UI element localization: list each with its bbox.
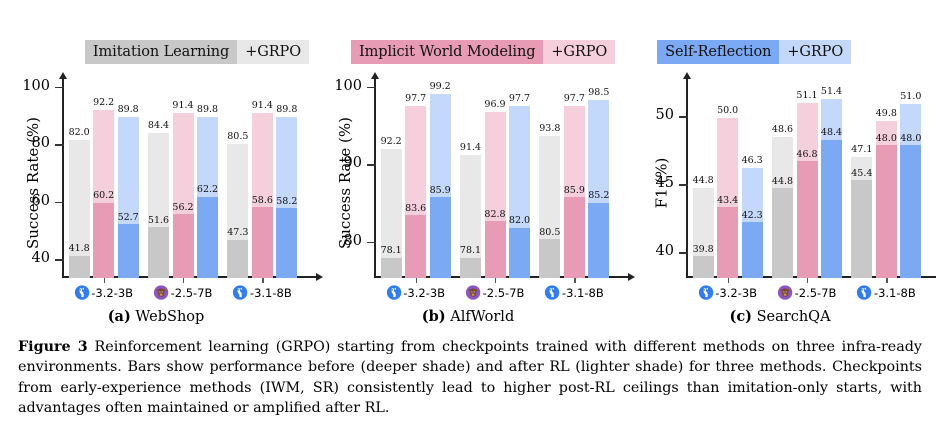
bar-webshop-2-1: 91.458.6 — [252, 113, 273, 278]
legend-swatch-implicit-world-modeling-base: Implicit World Modeling — [351, 40, 543, 64]
bar-value-label-after: 80.5 — [227, 131, 248, 142]
bar-webshop-2-0: 80.547.3 — [227, 144, 248, 278]
bar-value-label-after: 97.7 — [564, 93, 585, 104]
bar-value-label-before: 80.5 — [539, 227, 560, 238]
x-category-alfworld-2: -3.1-8B — [545, 285, 604, 300]
bar-value-label-after: 50.0 — [717, 105, 738, 116]
bar-value-label-after: 84.4 — [148, 120, 169, 131]
bar-searchqa-0-0: 44.839.8 — [693, 188, 714, 278]
bar-segment-before-rl — [539, 239, 560, 278]
bar-value-label-after: 97.7 — [509, 93, 530, 104]
bar-segment-before-rl — [93, 203, 114, 278]
bar-value-label-before: 39.8 — [693, 244, 714, 255]
x-category-label: -2.5-7B — [483, 286, 525, 300]
bar-segment-before-rl — [797, 161, 818, 278]
x-axis-categories: -3.2-3B-2.5-7B-3.1-8B — [686, 285, 924, 307]
llama-icon — [386, 285, 401, 300]
bar-value-label-before: 56.2 — [172, 202, 193, 213]
bar-value-label-after: 91.4 — [460, 142, 481, 153]
bar-value-label-after: 91.4 — [252, 100, 273, 111]
x-category-alfworld-1: -2.5-7B — [466, 285, 525, 300]
chart-panel-alfworld: Success Rate (%)809010092.278.197.783.69… — [312, 80, 624, 330]
bar-segment-before-rl — [405, 215, 426, 278]
bar-alfworld-2-2: 98.585.2 — [588, 100, 609, 278]
chart-panels: Success Rate (%)40608010082.041.892.260.… — [0, 80, 936, 330]
y-tick-label: 100 — [22, 78, 50, 94]
x-category-label: -3.1-8B — [874, 286, 916, 300]
bar-value-label-after: 47.1 — [851, 144, 872, 155]
bar-alfworld-1-0: 91.478.1 — [460, 155, 481, 278]
bar-segment-before-rl — [118, 224, 139, 278]
x-category-alfworld-0: -3.2-3B — [386, 285, 445, 300]
x-category-webshop-0: -3.2-3B — [74, 285, 133, 300]
y-tick-label: 40 — [32, 250, 50, 266]
bar-webshop-1-0: 84.451.6 — [148, 133, 169, 278]
bar-value-label-before: 58.2 — [276, 196, 297, 207]
bar-value-label-after: 98.5 — [588, 87, 609, 98]
bar-value-label-after: 82.0 — [69, 127, 90, 138]
bar-segment-before-rl — [430, 197, 451, 278]
x-category-label: -3.2-3B — [715, 286, 757, 300]
bar-webshop-1-2: 89.862.2 — [197, 117, 218, 278]
bar-segment-before-rl — [148, 227, 169, 278]
y-tick-label: 80 — [344, 233, 362, 249]
bars-container: 92.278.197.783.699.285.991.478.196.982.8… — [374, 88, 612, 278]
legend-group-self-reflection: Self-Reflection+GRPO — [657, 40, 851, 64]
bar-value-label-before: 47.3 — [227, 227, 248, 238]
bar-value-label-before: 58.6 — [252, 195, 273, 206]
bar-segment-before-rl — [717, 207, 738, 278]
bar-searchqa-2-2: 51.048.0 — [900, 104, 921, 278]
plot-area-webshop: 40608010082.041.892.260.289.852.784.451.… — [62, 88, 300, 278]
y-tick-label: 80 — [32, 135, 50, 151]
legend-group-implicit-world-modeling: Implicit World Modeling+GRPO — [351, 40, 615, 64]
bar-value-label-before: 48.0 — [876, 133, 897, 144]
bar-webshop-0-1: 92.260.2 — [93, 110, 114, 278]
bar-value-label-before: 78.1 — [460, 245, 481, 256]
bar-searchqa-1-0: 48.644.8 — [772, 137, 793, 278]
x-axis-categories: -3.2-3B-2.5-7B-3.1-8B — [62, 285, 300, 307]
bar-value-label-after: 91.4 — [172, 100, 193, 111]
bar-value-label-before: 78.1 — [381, 245, 402, 256]
bar-value-label-before: 51.6 — [148, 215, 169, 226]
legend-swatch-self-reflection-base: Self-Reflection — [657, 40, 779, 64]
y-tick-label: 60 — [32, 193, 50, 209]
legend-group-imitation-learning: Imitation Learning+GRPO — [85, 40, 309, 64]
bar-segment-before-rl — [173, 214, 194, 278]
bar-alfworld-0-1: 97.783.6 — [405, 106, 426, 278]
legend-swatch-self-reflection-grpo: +GRPO — [779, 40, 851, 64]
bar-alfworld-1-2: 97.782.0 — [509, 106, 530, 278]
qwen-icon — [466, 285, 481, 300]
bar-segment-before-rl — [900, 145, 921, 278]
subcaption-letter: (a) — [108, 308, 131, 325]
bar-value-label-after: 89.8 — [276, 104, 297, 115]
bar-value-label-after: 51.1 — [796, 90, 817, 101]
subcaption-title: SearchQA — [757, 309, 831, 325]
x-category-label: -2.5-7B — [795, 286, 837, 300]
x-category-label: -2.5-7B — [171, 286, 213, 300]
bars-container: 82.041.892.260.289.852.784.451.691.456.2… — [62, 88, 300, 278]
bar-segment-before-rl — [381, 258, 402, 278]
bar-searchqa-1-1: 51.146.8 — [797, 103, 818, 278]
bar-segment-before-rl — [564, 197, 585, 278]
bar-searchqa-2-1: 49.848.0 — [876, 121, 897, 278]
bar-value-label-before: 85.9 — [430, 185, 451, 196]
llama-icon — [545, 285, 560, 300]
subcaption-title: AlfWorld — [450, 309, 514, 325]
y-axis-label-alfworld: Success Rate (%) — [334, 88, 356, 278]
x-category-searchqa-2: -3.1-8B — [857, 285, 916, 300]
llama-icon — [233, 285, 248, 300]
bar-value-label-before: 45.4 — [851, 168, 872, 179]
qwen-icon — [154, 285, 169, 300]
bar-value-label-before: 52.7 — [118, 212, 139, 223]
x-category-searchqa-0: -3.2-3B — [698, 285, 757, 300]
bar-segment-before-rl — [485, 221, 506, 278]
x-category-label: -3.1-8B — [250, 286, 292, 300]
bar-value-label-before: 44.8 — [772, 176, 793, 187]
bar-value-label-after: 48.6 — [772, 124, 793, 135]
chart-legend: Imitation Learning+GRPOImplicit World Mo… — [0, 40, 936, 64]
chart-panel-webshop: Success Rate (%)40608010082.041.892.260.… — [0, 80, 312, 330]
bar-value-label-before: 60.2 — [93, 190, 114, 201]
bar-value-label-before: 62.2 — [197, 184, 218, 195]
x-category-label: -3.2-3B — [91, 286, 133, 300]
bar-value-label-before: 48.0 — [900, 133, 921, 144]
bar-webshop-2-2: 89.858.2 — [276, 117, 297, 278]
bar-value-label-after: 46.3 — [742, 155, 763, 166]
subcaption-alfworld: (b) AlfWorld — [312, 308, 624, 325]
subcaption-letter: (b) — [422, 308, 446, 325]
legend-swatch-implicit-world-modeling-grpo: +GRPO — [543, 40, 615, 64]
bar-value-label-after: 99.2 — [430, 81, 451, 92]
bar-value-label-after: 89.8 — [197, 104, 218, 115]
bar-segment-before-rl — [772, 188, 793, 278]
bar-segment-before-rl — [276, 208, 297, 278]
qwen-icon — [778, 285, 793, 300]
bar-value-label-before: 43.4 — [717, 195, 738, 206]
bar-value-label-before: 85.2 — [588, 190, 609, 201]
bar-segment-before-rl — [509, 228, 530, 278]
y-tick-label: 100 — [334, 78, 362, 94]
bar-alfworld-2-0: 93.880.5 — [539, 136, 560, 278]
plot-area-searchqa: 40455044.839.850.043.446.342.348.644.851… — [686, 88, 924, 278]
bar-alfworld-0-2: 99.285.9 — [430, 94, 451, 278]
bar-value-label-after: 51.4 — [821, 86, 842, 97]
bar-segment-before-rl — [460, 258, 481, 278]
bar-segment-before-rl — [227, 240, 248, 278]
llama-icon — [857, 285, 872, 300]
y-tick-label: 50 — [656, 107, 674, 123]
bar-segment-before-rl — [588, 203, 609, 278]
bar-segment-before-rl — [197, 197, 218, 278]
y-tick-label: 90 — [344, 155, 362, 171]
subcaption-webshop: (a) WebShop — [0, 308, 312, 325]
x-category-webshop-1: -2.5-7B — [154, 285, 213, 300]
bar-segment-before-rl — [851, 180, 872, 278]
bar-alfworld-1-1: 96.982.8 — [485, 112, 506, 278]
bar-value-label-after: 96.9 — [484, 99, 505, 110]
y-tick-label: 45 — [656, 175, 674, 191]
bar-value-label-before: 82.8 — [484, 209, 505, 220]
bar-searchqa-0-2: 46.342.3 — [742, 168, 763, 278]
bar-webshop-1-1: 91.456.2 — [173, 113, 194, 278]
bar-value-label-before: 42.3 — [742, 210, 763, 221]
bar-value-label-after: 92.2 — [381, 136, 402, 147]
figure-caption: Figure 3 Reinforcement learning (GRPO) s… — [18, 337, 922, 418]
bar-alfworld-2-1: 97.785.9 — [564, 106, 585, 278]
subcaption-searchqa: (c) SearchQA — [624, 308, 936, 325]
subcaption-letter: (c) — [729, 308, 752, 325]
bar-value-label-after: 92.2 — [93, 97, 114, 108]
figure-caption-text: Reinforcement learning (GRPO) starting f… — [18, 339, 922, 416]
x-axis-categories: -3.2-3B-2.5-7B-3.1-8B — [374, 285, 612, 307]
x-category-label: -3.1-8B — [562, 286, 604, 300]
bar-webshop-0-2: 89.852.7 — [118, 117, 139, 278]
bar-searchqa-2-0: 47.145.4 — [851, 157, 872, 278]
llama-icon — [74, 285, 89, 300]
bar-value-label-after: 49.8 — [876, 108, 897, 119]
llama-icon — [698, 285, 713, 300]
bar-searchqa-0-1: 50.043.4 — [717, 118, 738, 278]
bar-segment-before-rl — [876, 145, 897, 278]
bar-alfworld-0-0: 92.278.1 — [381, 149, 402, 279]
x-category-webshop-2: -3.1-8B — [233, 285, 292, 300]
bar-searchqa-1-2: 51.448.4 — [821, 99, 842, 278]
bar-segment-before-rl — [252, 207, 273, 278]
bar-segment-before-rl — [69, 256, 90, 278]
bar-value-label-after: 97.7 — [405, 93, 426, 104]
bar-value-label-after: 93.8 — [539, 123, 560, 134]
bars-container: 44.839.850.043.446.342.348.644.851.146.8… — [686, 88, 924, 278]
bar-value-label-after: 51.0 — [900, 91, 921, 102]
plot-area-alfworld: 809010092.278.197.783.699.285.991.478.19… — [374, 88, 612, 278]
bar-segment-before-rl — [693, 256, 714, 278]
y-axis-label-text: Success Rate (%) — [336, 117, 354, 249]
bar-webshop-0-0: 82.041.8 — [69, 140, 90, 278]
bar-value-label-before: 82.0 — [509, 215, 530, 226]
y-tick-label: 40 — [656, 243, 674, 259]
x-category-label: -3.2-3B — [403, 286, 445, 300]
bar-segment-before-rl — [821, 140, 842, 278]
legend-swatch-imitation-learning-base: Imitation Learning — [85, 40, 237, 64]
bar-value-label-before: 85.9 — [564, 185, 585, 196]
bar-value-label-before: 83.6 — [405, 203, 426, 214]
legend-swatch-imitation-learning-grpo: +GRPO — [237, 40, 309, 64]
bar-value-label-after: 44.8 — [693, 175, 714, 186]
subcaption-title: WebShop — [135, 309, 204, 325]
bar-segment-before-rl — [742, 222, 763, 278]
bar-value-label-after: 89.8 — [118, 104, 139, 115]
x-category-searchqa-1: -2.5-7B — [778, 285, 837, 300]
bar-value-label-before: 48.4 — [821, 127, 842, 138]
figure-label: Figure 3 — [18, 339, 88, 355]
bar-value-label-before: 46.8 — [796, 149, 817, 160]
chart-panel-searchqa: F1 (%)40455044.839.850.043.446.342.348.6… — [624, 80, 936, 330]
bar-value-label-before: 41.8 — [69, 243, 90, 254]
